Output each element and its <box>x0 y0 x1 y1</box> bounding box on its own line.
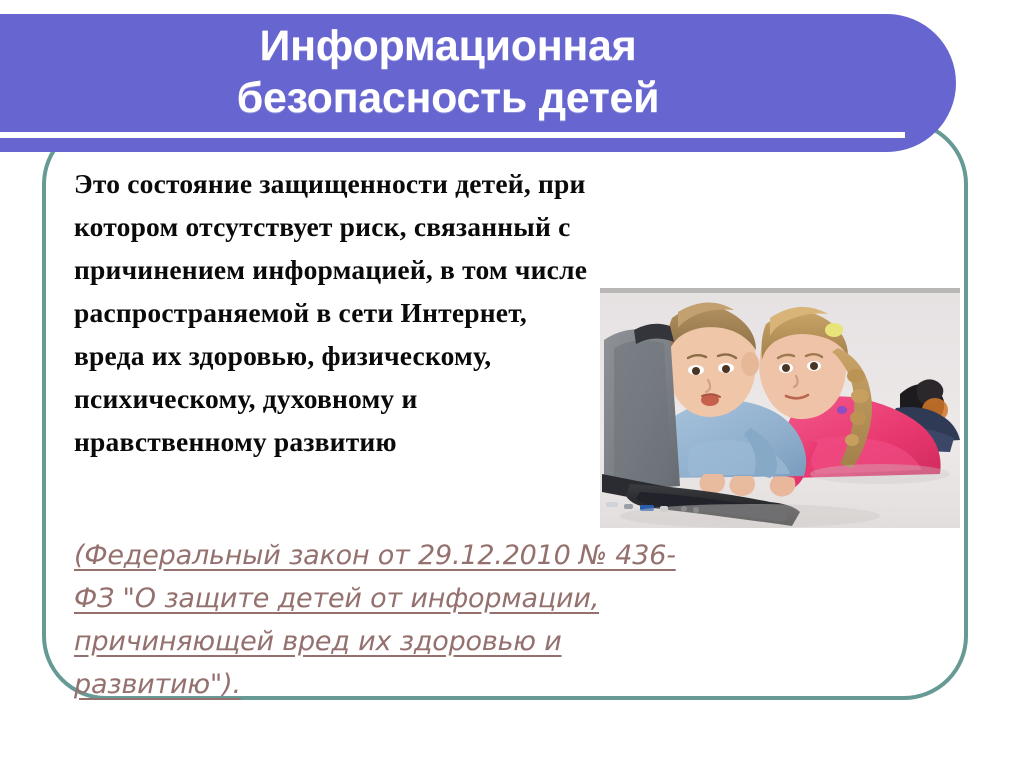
title-underline-rule <box>0 132 905 138</box>
law-citation-text: (Федеральный закон от 29.12.2010 № 436-Ф… <box>74 534 714 706</box>
children-with-laptop-photo <box>600 288 960 528</box>
title-banner: Информационная безопасность детей <box>0 14 956 152</box>
page-title: Информационная безопасность детей <box>0 20 896 124</box>
slide-canvas: Информационная безопасность детей Это со… <box>0 0 1024 768</box>
photo-illustration <box>600 288 960 528</box>
definition-paragraph: Это состояние защищенности детей, при ко… <box>74 162 594 463</box>
